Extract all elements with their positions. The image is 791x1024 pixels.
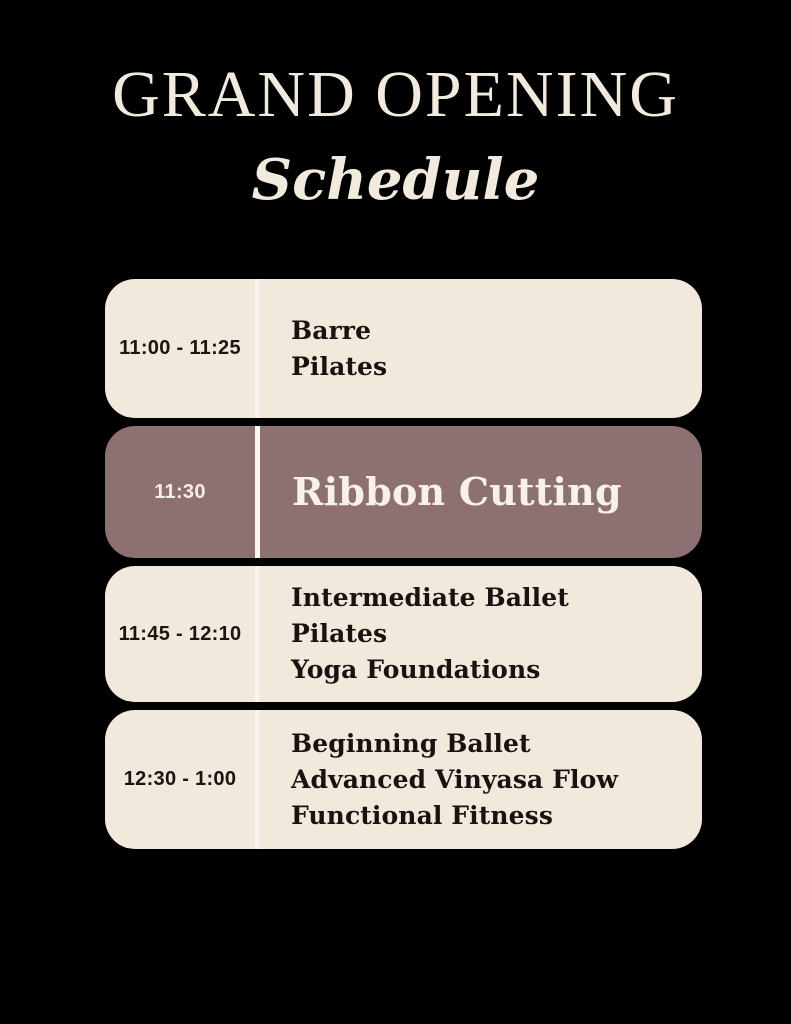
class-name: Intermediate Ballet	[291, 580, 682, 616]
page-subtitle: Schedule	[0, 148, 791, 212]
schedule-row-time: 11:45 - 12:10	[105, 566, 255, 702]
class-name: Yoga Foundations	[291, 652, 682, 688]
schedule-row-classes: Barre Pilates	[259, 279, 702, 418]
page-title: GRAND OPENING	[0, 60, 791, 130]
schedule-list: 11:00 - 11:25 Barre Pilates 11:30 Ribbon…	[105, 279, 702, 849]
poster-header: GRAND OPENING Schedule	[0, 60, 791, 212]
grand-opening-schedule-poster: GRAND OPENING Schedule 11:00 - 11:25 Bar…	[0, 0, 791, 1024]
class-name: Pilates	[291, 616, 682, 652]
class-name: Functional Fitness	[291, 798, 682, 834]
class-name: Barre	[291, 313, 682, 349]
schedule-row-classes: Beginning Ballet Advanced Vinyasa Flow F…	[259, 710, 702, 849]
schedule-row-time: 12:30 - 1:00	[105, 710, 255, 849]
schedule-row[interactable]: 12:30 - 1:00 Beginning Ballet Advanced V…	[105, 710, 702, 849]
schedule-row-time: 11:00 - 11:25	[105, 279, 255, 418]
schedule-row-classes: Intermediate Ballet Pilates Yoga Foundat…	[259, 566, 702, 702]
class-name: Beginning Ballet	[291, 726, 682, 762]
schedule-row-time: 11:30	[105, 426, 255, 558]
class-name: Ribbon Cutting	[292, 469, 682, 515]
class-name: Advanced Vinyasa Flow	[291, 762, 682, 798]
class-name: Pilates	[291, 349, 682, 385]
schedule-row[interactable]: 11:45 - 12:10 Intermediate Ballet Pilate…	[105, 566, 702, 702]
schedule-row-highlighted[interactable]: 11:30 Ribbon Cutting	[105, 426, 702, 558]
schedule-row-classes: Ribbon Cutting	[260, 426, 702, 558]
schedule-row[interactable]: 11:00 - 11:25 Barre Pilates	[105, 279, 702, 418]
